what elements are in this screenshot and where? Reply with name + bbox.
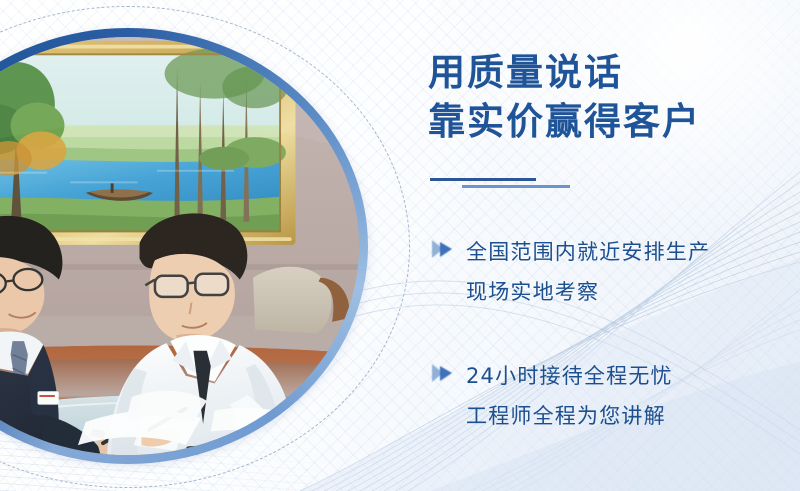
list-item-line-2: 现场实地考察: [466, 272, 800, 312]
double-chevron-right-icon: [430, 362, 456, 384]
content-column: 用质量说话 靠实价赢得客户 全国范围内就近安排生产 现场实地考察: [428, 0, 800, 491]
double-chevron-right-icon: [430, 238, 456, 260]
promo-banner: 用质量说话 靠实价赢得客户 全国范围内就近安排生产 现场实地考察: [0, 0, 800, 491]
list-item-text: 24小时接待全程无忧 工程师全程为您讲解: [466, 356, 800, 436]
list-item-text: 全国范围内就近安排生产 现场实地考察: [466, 232, 800, 312]
headline-line-2: 靠实价赢得客户: [428, 97, 701, 146]
divider-lower: [462, 185, 570, 188]
list-item-line-1: 全国范围内就近安排生产: [466, 232, 800, 272]
page-title: 用质量说话 靠实价赢得客户: [428, 48, 701, 146]
list-item: 24小时接待全程无忧 工程师全程为您讲解: [428, 356, 800, 436]
photo-ring-border: [0, 28, 368, 464]
meeting-photo: [0, 37, 359, 455]
list-item: 全国范围内就近安排生产 现场实地考察: [428, 232, 800, 312]
headline-line-1: 用质量说话: [428, 51, 623, 94]
list-item-line-2: 工程师全程为您讲解: [466, 396, 800, 436]
photo-medallion: [0, 28, 368, 464]
divider-upper: [430, 178, 536, 181]
feature-list: 全国范围内就近安排生产 现场实地考察 24小时接待全程无忧 工程师全程为您讲解: [428, 232, 800, 436]
list-item-line-1: 24小时接待全程无忧: [466, 356, 800, 396]
